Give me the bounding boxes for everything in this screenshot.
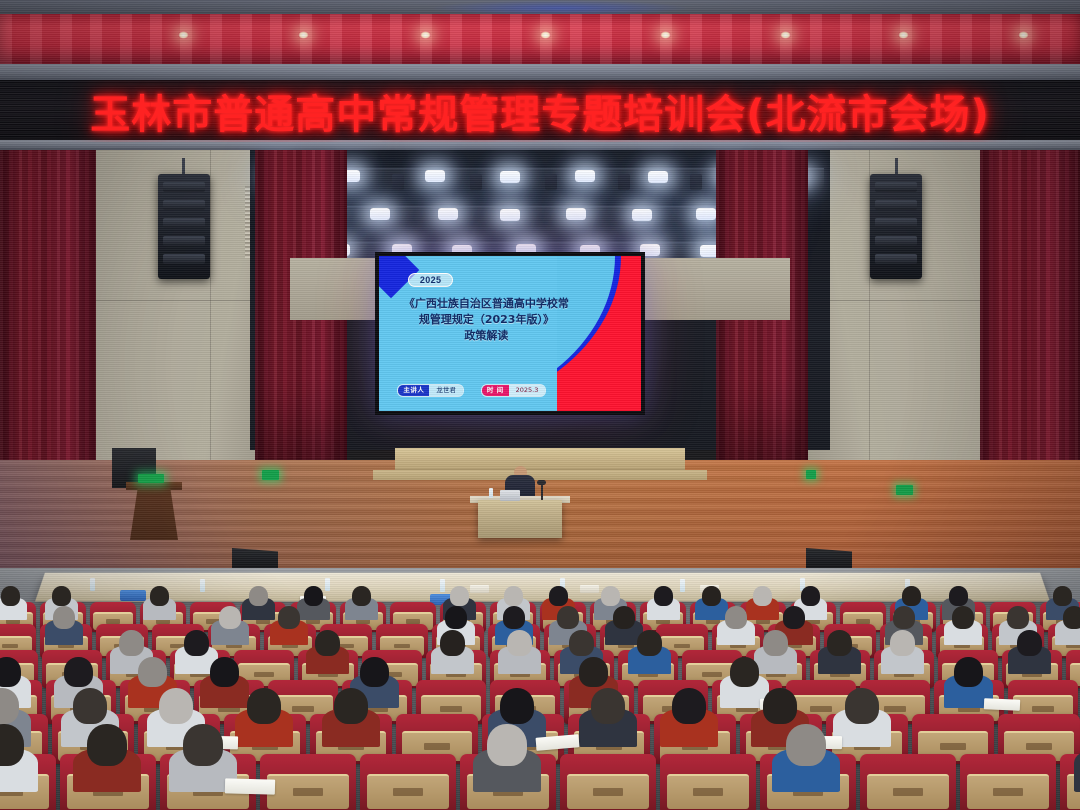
auditorium-seat bbox=[660, 754, 756, 810]
spotlight-icon bbox=[425, 170, 445, 182]
slide-host-label: 主讲人 bbox=[398, 385, 429, 396]
seat-number-plate bbox=[254, 672, 273, 677]
auditorium-seat bbox=[960, 754, 1056, 810]
audience-member-head bbox=[1017, 630, 1042, 656]
audience-member-head bbox=[138, 657, 167, 687]
seat-number-plate bbox=[306, 619, 321, 623]
seat-number-plate bbox=[1026, 743, 1052, 750]
slide-meta-row: 主讲人 龙世君 时 间 2025.3 bbox=[397, 384, 546, 397]
audience-member-head bbox=[801, 586, 820, 606]
spotlight-icon bbox=[500, 171, 520, 183]
audience-member-head bbox=[591, 688, 625, 724]
audience-member-head bbox=[64, 657, 93, 687]
seat-number-plate bbox=[810, 706, 832, 712]
seat-number-plate bbox=[424, 743, 450, 750]
auditorium-seat bbox=[860, 754, 956, 810]
audience-member-head bbox=[601, 586, 620, 606]
seat-number-plate bbox=[393, 788, 424, 796]
microphone-icon bbox=[541, 484, 543, 500]
audience-member-head bbox=[210, 657, 239, 687]
audience-member-head bbox=[1053, 586, 1072, 606]
spotlight-icon bbox=[696, 208, 716, 220]
exit-sign-icon bbox=[138, 474, 164, 483]
audience-member-head bbox=[783, 606, 805, 629]
slide-host-tag: 主讲人 龙世君 bbox=[397, 384, 464, 397]
audience-member-head bbox=[637, 630, 662, 656]
audience-member-head bbox=[579, 657, 608, 687]
banner-title: 玉林市普通高中常规管理专题培训会(北流市会场) bbox=[90, 82, 990, 140]
audience-member-head bbox=[445, 606, 467, 629]
audience-member-head bbox=[315, 630, 340, 656]
slide-title-line-2: 规管理规定（2023年版）》 bbox=[389, 312, 583, 328]
audience-member-head bbox=[902, 586, 921, 606]
water-bottle-icon bbox=[489, 488, 493, 498]
name-placard bbox=[580, 585, 599, 593]
audience-seating-area bbox=[0, 568, 1080, 810]
microphone-head-icon bbox=[537, 480, 546, 485]
equipment-case bbox=[120, 590, 146, 601]
line-array-speaker-icon bbox=[158, 174, 210, 279]
led-banner: 玉林市普通高中常规管理专题培训会(北流市会场) bbox=[0, 80, 1080, 142]
audience-member-head bbox=[569, 630, 594, 656]
audience-member-head bbox=[654, 586, 673, 606]
audience-member-head bbox=[753, 586, 772, 606]
seat-number-plate bbox=[856, 619, 871, 623]
exit-sign-icon bbox=[262, 470, 279, 480]
seat-number-plate bbox=[394, 644, 411, 649]
audience-member-head bbox=[557, 606, 579, 629]
audience-member-head bbox=[1063, 606, 1080, 629]
seat-number-plate bbox=[674, 644, 691, 649]
seat-number-plate bbox=[884, 706, 906, 712]
stage-light-fixture bbox=[690, 174, 702, 190]
name-placard bbox=[470, 585, 489, 593]
seat-number-plate bbox=[292, 706, 314, 712]
audience-member-head bbox=[219, 606, 241, 629]
front-row-table bbox=[35, 573, 1050, 602]
stage-light-fixture bbox=[545, 174, 557, 190]
slide-title-line-3: 政策解读 bbox=[389, 328, 583, 344]
spotlight-icon bbox=[500, 209, 520, 221]
audience-member-head bbox=[786, 724, 826, 766]
stage-light-fixture bbox=[470, 174, 482, 190]
slide-year-badge: 2025 bbox=[408, 273, 454, 287]
audience-member-head bbox=[845, 688, 879, 724]
spotlight-icon bbox=[632, 209, 652, 221]
audience-member-head bbox=[52, 586, 71, 606]
laptop-icon bbox=[500, 490, 520, 501]
audience-member-head bbox=[334, 688, 368, 724]
stage-light-fixture bbox=[618, 174, 630, 190]
slide-time-value: 2025.3 bbox=[509, 385, 546, 396]
seat-number-plate bbox=[440, 706, 462, 712]
auditorium-seat bbox=[360, 754, 456, 810]
audience-member-head bbox=[507, 630, 532, 656]
seat-number-plate bbox=[1032, 706, 1054, 712]
audience-member-head bbox=[702, 586, 721, 606]
seat-number-plate bbox=[293, 788, 324, 796]
projection-screen: 2025 《广西壮族自治区普通高中学校常 规管理规定（2023年版）》 政策解读… bbox=[375, 252, 645, 415]
speaking-podium bbox=[130, 488, 178, 540]
seat-number-plate bbox=[893, 788, 924, 796]
audience-member-head bbox=[890, 630, 915, 656]
auditorium-photo: 玉林市普通高中常规管理专题培训会(北流市会场) bbox=[0, 0, 1080, 810]
seat-number-plate bbox=[256, 619, 271, 623]
water-bottle-icon bbox=[200, 579, 205, 592]
slide-host-value: 龙世君 bbox=[429, 385, 463, 396]
seat-number-plate bbox=[940, 743, 966, 750]
exit-sign-icon bbox=[896, 485, 913, 495]
audience-member-head bbox=[952, 606, 974, 629]
downlight-icon bbox=[898, 31, 909, 39]
audience-member-head bbox=[150, 586, 169, 606]
seat-number-plate bbox=[702, 672, 721, 677]
audience-member-head bbox=[725, 606, 747, 629]
spotlight-icon bbox=[438, 208, 458, 220]
valance-fabric-sheen bbox=[0, 14, 1080, 66]
audience-member-head bbox=[119, 630, 144, 656]
water-bottle-icon bbox=[325, 578, 330, 591]
seat-number-plate bbox=[406, 619, 421, 623]
audience-member-head bbox=[184, 630, 209, 656]
audience-member-head bbox=[249, 586, 268, 606]
note-paper bbox=[984, 698, 1020, 710]
seat-number-plate bbox=[593, 788, 624, 796]
seat-number-plate bbox=[356, 619, 371, 623]
audience-member-head bbox=[500, 688, 534, 724]
water-bottle-icon bbox=[90, 578, 95, 591]
audience-member-head bbox=[352, 586, 371, 606]
audience-member-head bbox=[247, 688, 281, 724]
seat-number-plate bbox=[106, 619, 121, 623]
exit-sign-icon bbox=[806, 470, 816, 479]
downlight-icon bbox=[660, 31, 671, 39]
audience-member-head bbox=[1, 586, 20, 606]
audience-member-head bbox=[613, 606, 635, 629]
water-bottle-icon bbox=[680, 579, 685, 592]
head-table bbox=[478, 500, 562, 538]
presentation-slide: 2025 《广西壮族自治区普通高中学校常 规管理规定（2023年版）》 政策解读… bbox=[379, 256, 641, 411]
audience-member-head bbox=[304, 586, 323, 606]
audience-member-head bbox=[159, 688, 193, 724]
downlight-icon bbox=[540, 31, 551, 39]
stage-monitor-speaker-icon bbox=[806, 548, 852, 570]
seat-number-plate bbox=[756, 619, 771, 623]
audience-member-head bbox=[183, 724, 223, 766]
audience-member-head bbox=[763, 688, 797, 724]
audience-member-head bbox=[53, 606, 75, 629]
slide-title: 《广西壮族自治区普通高中学校常 规管理规定（2023年版）》 政策解读 bbox=[389, 296, 583, 344]
seat-number-plate bbox=[993, 788, 1024, 796]
seat-number-plate bbox=[693, 788, 724, 796]
seat-number-plate bbox=[656, 619, 671, 623]
audience-member-head bbox=[487, 724, 527, 766]
slide-title-line-1: 《广西壮族自治区普通高中学校常 bbox=[389, 296, 583, 312]
line-array-speaker-icon bbox=[870, 174, 922, 279]
audience-member-head bbox=[954, 657, 983, 687]
audience-member-head bbox=[0, 657, 21, 687]
audience-member-head bbox=[278, 606, 300, 629]
ceiling-valance bbox=[0, 14, 1080, 66]
downlight-icon bbox=[780, 31, 791, 39]
audience-member-head bbox=[504, 586, 523, 606]
spotlight-icon bbox=[575, 170, 595, 182]
slide-time-label: 时 间 bbox=[482, 385, 509, 396]
note-paper bbox=[225, 778, 275, 794]
audience-member-head bbox=[1007, 606, 1029, 629]
water-bottle-icon bbox=[440, 579, 445, 592]
audience-member-head bbox=[672, 688, 706, 724]
audience-member-head bbox=[893, 606, 915, 629]
auditorium-seat bbox=[560, 754, 656, 810]
audience-member-head bbox=[440, 630, 465, 656]
audience-member-head bbox=[730, 657, 759, 687]
downlight-icon bbox=[298, 31, 309, 39]
audience-member-head bbox=[503, 606, 525, 629]
audience-member-head bbox=[360, 657, 389, 687]
downlight-icon bbox=[178, 31, 189, 39]
downlight-icon bbox=[420, 31, 431, 39]
audience-member-head bbox=[87, 724, 127, 766]
audience-member-head bbox=[549, 586, 568, 606]
audience-member-head bbox=[949, 586, 968, 606]
stage-monitor-speaker-icon bbox=[232, 548, 278, 570]
audience-member-head bbox=[73, 688, 107, 724]
stage-steps bbox=[395, 448, 685, 472]
downlight-icon bbox=[1018, 31, 1029, 39]
spotlight-icon bbox=[370, 208, 390, 220]
spotlight-icon bbox=[648, 171, 668, 183]
slide-time-tag: 时 间 2025.3 bbox=[481, 384, 547, 397]
audience-member-head bbox=[827, 630, 852, 656]
audience-member-head bbox=[763, 630, 788, 656]
stage-light-fixture bbox=[392, 174, 404, 190]
seat-number-plate bbox=[156, 619, 171, 623]
audience-member-head bbox=[450, 586, 469, 606]
seat-number-plate bbox=[6, 619, 21, 623]
spotlight-icon bbox=[566, 208, 586, 220]
seat-number-plate bbox=[2, 644, 19, 649]
